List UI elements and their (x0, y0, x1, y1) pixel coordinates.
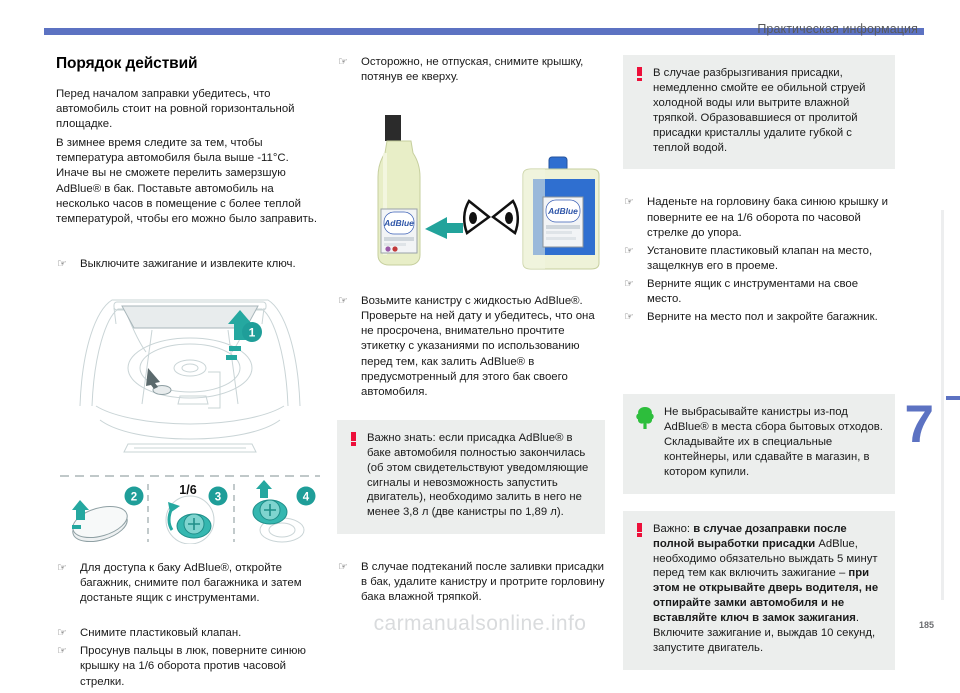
spacer (56, 275, 324, 284)
spacer (337, 277, 605, 294)
spacer (56, 544, 324, 561)
spacer (337, 88, 605, 105)
svg-text:2: 2 (131, 491, 137, 503)
pointing-hand-icon: ☞ (57, 257, 67, 272)
adblue-cap-steps-diagram: 2 1/6 3 4 (56, 472, 324, 544)
column-two: ☞ Осторожно, не отпуская, снимите крышку… (337, 55, 605, 609)
note-refill-text: Важно: в случае дозаправки после полной … (653, 522, 883, 656)
bullet-trunk-access-label: Для доступа к баку AdBlue®, откройте баг… (80, 562, 302, 604)
pointing-hand-icon: ☞ (338, 55, 348, 70)
bullet-take-canister: ☞ Возьмите канистру с жидкостью AdBlue®.… (337, 294, 605, 400)
header-title: Практическая информация (757, 22, 918, 36)
bullet-remove-valve: ☞ Снимите пластиковый клапан. (56, 626, 324, 641)
bullet-blue-cap-label: Наденьте на горловину бака синюю крышку … (647, 196, 888, 238)
bullet-turn-cap-label: Просунув пальцы в люк, поверните синюю к… (80, 645, 306, 687)
bullet-plastic-valve-label: Установите пластиковый клапан на место, … (647, 245, 872, 272)
chapter-rule (946, 396, 960, 400)
pointing-hand-icon: ☞ (624, 277, 634, 292)
side-rule (941, 210, 944, 600)
note-important-text: Важно знать: если присадка AdBlue® в бак… (367, 431, 593, 520)
bullet-remove-cap: ☞ Осторожно, не отпуская, снимите крышку… (337, 55, 605, 85)
bullet-blue-cap: ☞ Наденьте на горловину бака синюю крышк… (623, 195, 895, 240)
svg-text:4: 4 (303, 491, 310, 503)
bullet-toolbox-label: Верните ящик с инструментами на свое мес… (647, 278, 858, 305)
spacer (56, 231, 324, 257)
bullet-turn-cap: ☞ Просунув пальцы в люк, поверните синюю… (56, 644, 324, 689)
pointing-hand-icon: ☞ (338, 294, 348, 309)
note-environment-text: Не выбрасывайте канистры из-под AdBlue® … (664, 405, 883, 480)
warning-icon (349, 432, 358, 520)
spacer (623, 169, 895, 195)
spacer (56, 609, 324, 626)
svg-text:1: 1 (249, 325, 256, 339)
column-one: Порядок действий Перед началом заправки … (56, 55, 324, 693)
page-title: Порядок действий (56, 55, 324, 73)
adblue-bottle-and-canister: AdBlue Ad (337, 105, 605, 277)
note-environment: Не выбрасывайте канистры из-под AdBlue® … (623, 394, 895, 494)
spacer (623, 494, 895, 511)
bottle-label: AdBlue (383, 218, 414, 228)
refill-part-1: Важно: (653, 523, 693, 535)
intro-paragraph-1: Перед началом заправки убедитесь, что ав… (56, 87, 324, 132)
spacer (337, 534, 605, 560)
chapter-number: 7 (905, 398, 934, 451)
svg-text:3: 3 (215, 491, 221, 503)
turn-ratio-label: 1/6 (179, 483, 196, 497)
spacer (337, 403, 605, 420)
bullet-plastic-valve: ☞ Установите пластиковый клапан на место… (623, 244, 895, 274)
bullet-trunk-access: ☞ Для доступа к баку AdBlue®, откройте б… (56, 561, 324, 606)
pointing-hand-icon: ☞ (624, 244, 634, 259)
note-splash-warning: В случае разбрызгивания присадки, немедл… (623, 55, 895, 169)
bullet-floor: ☞ Верните на место пол и закройте багажн… (623, 310, 895, 325)
note-splash-text: В случае разбрызгивания присадки, немедл… (653, 66, 883, 155)
pointing-hand-icon: ☞ (338, 560, 348, 575)
pointing-hand-icon: ☞ (624, 195, 634, 210)
bullet-remove-valve-label: Снимите пластиковый клапан. (80, 627, 241, 639)
spacer (623, 328, 895, 394)
note-refill-important: Важно: в случае дозаправки после полной … (623, 511, 895, 670)
bullet-leak-label: В случае подтеканий после заливки присад… (361, 561, 605, 603)
warning-icon (635, 67, 644, 155)
column-three: В случае разбрызгивания присадки, немедл… (623, 55, 895, 670)
bullet-take-canister-label: Возьмите канистру с жидкостью AdBlue®. П… (361, 295, 595, 398)
bullet-toolbox: ☞ Верните ящик с инструментами на свое м… (623, 277, 895, 307)
pointing-hand-icon: ☞ (624, 310, 634, 325)
bullet-leak: ☞ В случае подтеканий после заливки прис… (337, 560, 605, 605)
pointing-hand-icon: ☞ (57, 561, 67, 576)
warning-icon (635, 523, 644, 656)
pointing-hand-icon: ☞ (57, 644, 67, 659)
bullet-floor-label: Верните на место пол и закройте багажник… (647, 311, 878, 323)
bullet-ignition-label: Выключите зажигание и извлеките ключ. (80, 258, 296, 270)
bullet-ignition: ☞ Выключите зажигание и извлеките ключ. (56, 257, 324, 272)
trunk-adblue-access-diagram: 1 (56, 284, 324, 474)
bullet-remove-cap-label: Осторожно, не отпуская, снимите крышку, … (361, 56, 583, 83)
intro-paragraph-2: В зимнее время следите за тем, чтобы тем… (56, 136, 324, 227)
pointing-hand-icon: ☞ (57, 626, 67, 641)
tree-icon (635, 406, 655, 480)
note-important-empty-tank: Важно знать: если присадка AdBlue® в бак… (337, 420, 605, 534)
canister-label: AdBlue (547, 206, 578, 216)
